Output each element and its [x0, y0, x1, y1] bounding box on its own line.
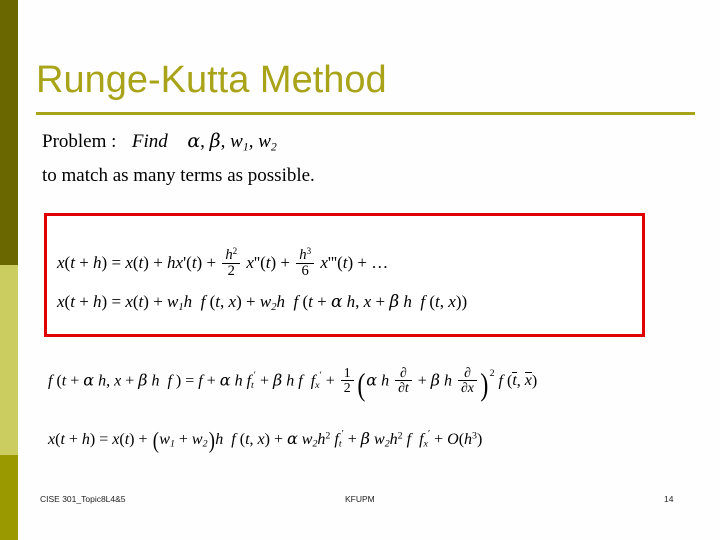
- problem-line-2: to match as many terms as possible.: [42, 162, 315, 189]
- problem-unknowns: α, β, w1, w2: [187, 131, 276, 152]
- problem-label: Problem :: [42, 131, 116, 152]
- equation-expanded-rk: x(t + h) = x(t) + (w1 + w2)h f (t, x) + …: [48, 428, 482, 455]
- footer-course-code: CISE 301_Topic8L4&5: [40, 494, 126, 504]
- page-title: Runge-Kutta Method: [36, 57, 387, 103]
- sidebar-decoration: [0, 0, 18, 540]
- equation-rk-form: x(t + h) = x(t) + w1h f (t, x) + w2h f (…: [57, 292, 467, 313]
- problem-find-word: Find: [132, 131, 168, 152]
- footer-page-number: 14: [664, 494, 673, 504]
- slide-footer: CISE 301_Topic8L4&5 KFUPM 14: [0, 494, 720, 510]
- equation-f-expansion: f (t + α h, x + β h f ) = f + α h ft′ + …: [48, 366, 537, 403]
- sidebar-segment-top: [0, 0, 18, 265]
- slide-canvas: Runge-Kutta Method Problem : Find α, β, …: [0, 0, 720, 540]
- title-divider: [36, 112, 695, 115]
- problem-line-1: Problem : Find α, β, w1, w2: [42, 128, 315, 160]
- equation-taylor-expansion: x(t + h) = x(t) + hx'(t) + h22 x''(t) + …: [57, 247, 388, 279]
- sidebar-segment-middle: [0, 265, 18, 455]
- footer-institution: KFUPM: [345, 494, 375, 504]
- highlighted-equation-box: x(t + h) = x(t) + hx'(t) + h22 x''(t) + …: [44, 213, 645, 337]
- problem-statement: Problem : Find α, β, w1, w2 to match as …: [42, 128, 315, 189]
